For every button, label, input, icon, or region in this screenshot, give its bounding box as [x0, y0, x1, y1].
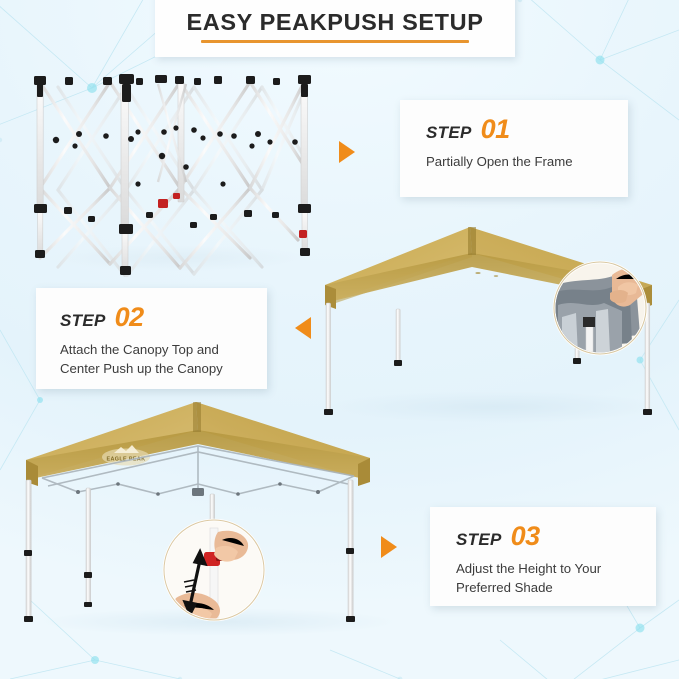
step-description-01: Partially Open the Frame — [426, 152, 628, 171]
step-card-03: STEP 03 Adjust the Height to Your Prefer… — [430, 507, 656, 606]
canopy-with-top-photo — [300, 225, 679, 425]
step-card-02: STEP 02 Attach the Canopy Top and Center… — [36, 288, 267, 389]
title-underline — [201, 40, 469, 43]
infographic-stage: EAGLE PEAK — [0, 0, 679, 679]
arrow-right-icon — [339, 141, 355, 163]
step-label-02: STEP — [60, 311, 106, 331]
arrow-right-icon — [381, 536, 397, 558]
step-label-03: STEP — [456, 530, 502, 550]
step-description-02: Attach the Canopy Top and Center Push up… — [60, 340, 267, 379]
canopy-height-adjust-photo: EAGLE PEAK — [18, 400, 420, 635]
arrow-left-icon — [295, 317, 311, 339]
step-number-01: 01 — [481, 117, 510, 141]
title-card: EASY PEAKPUSH SETUP — [155, 0, 515, 57]
step-card-01: STEP 01 Partially Open the Frame — [400, 100, 628, 197]
step-number-02: 02 — [115, 305, 144, 329]
step-heading-01: STEP 01 — [426, 117, 628, 143]
folding-frame-photo — [18, 62, 328, 277]
step-description-03: Adjust the Height to Your Preferred Shad… — [456, 559, 656, 598]
step-heading-02: STEP 02 — [60, 305, 267, 331]
step-heading-03: STEP 03 — [456, 524, 656, 550]
page-title: EASY PEAKPUSH SETUP — [187, 11, 484, 35]
step-number-03: 03 — [511, 524, 540, 548]
step-label-01: STEP — [426, 123, 472, 143]
